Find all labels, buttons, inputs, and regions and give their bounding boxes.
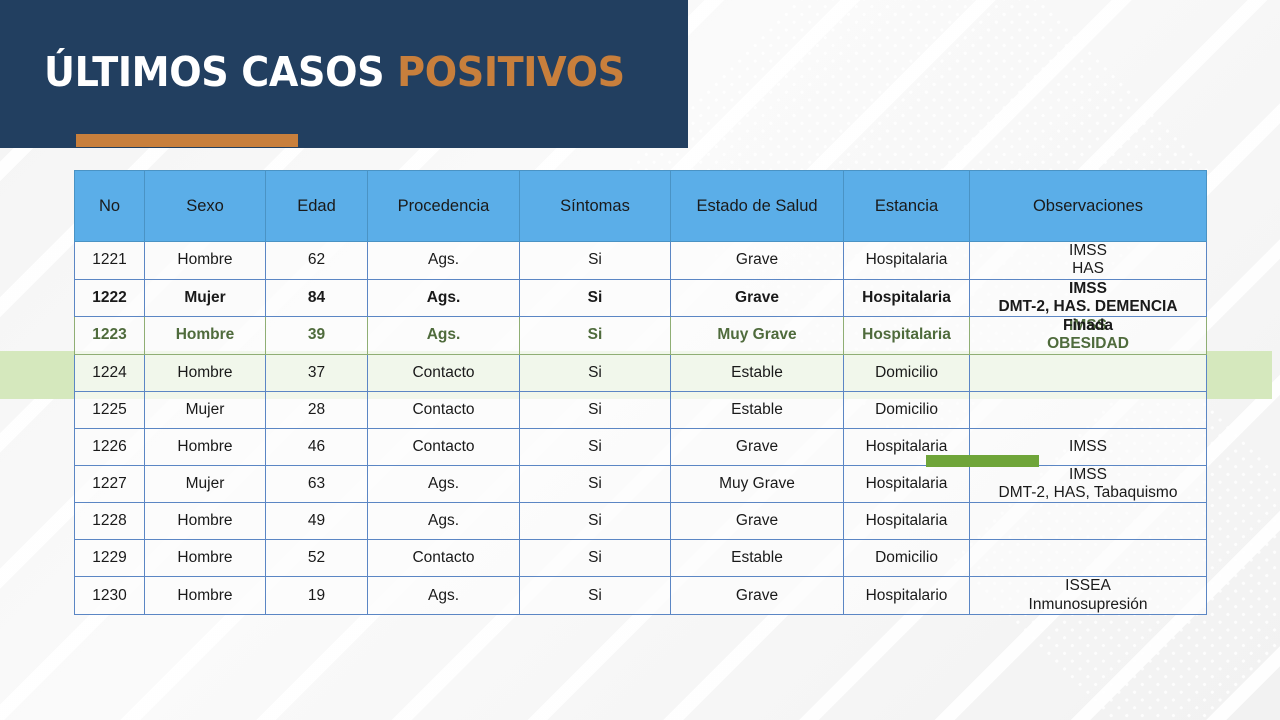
cell-procedencia: Ags. [368, 503, 520, 540]
column-header-sintomas: Síntomas [520, 171, 671, 242]
cell-sexo: Mujer [145, 391, 266, 428]
cell-no: 1229 [75, 540, 145, 577]
observacion-line: ISSEA [972, 577, 1204, 595]
cell-sintomas: Si [520, 391, 671, 428]
cell-edad: 19 [266, 577, 368, 615]
cell-sexo: Hombre [145, 428, 266, 465]
cell-no: 1224 [75, 354, 145, 391]
table-row: 1225 Mujer 28 Contacto Si Estable Domici… [75, 391, 1207, 428]
cell-sexo: Hombre [145, 503, 266, 540]
page-title-accent: POSITIVOS [397, 48, 625, 96]
cell-no: 1230 [75, 577, 145, 615]
cell-sintomas: Si [520, 279, 671, 317]
observacion-line: IMSS [972, 438, 1204, 456]
cell-estancia: Hospitalaria [844, 317, 970, 355]
cell-estado: Grave [671, 503, 844, 540]
cases-table: No Sexo Edad Procedencia Síntomas Estado… [74, 170, 1207, 615]
cell-estado: Grave [671, 577, 844, 615]
cell-observaciones [970, 503, 1207, 540]
page-title-main: ÚLTIMOS CASOS [44, 48, 384, 96]
cell-no: 1226 [75, 428, 145, 465]
cell-no: 1223 [75, 317, 145, 355]
observacion-line: DMT-2, HAS, Tabaquismo [972, 484, 1204, 502]
cell-procedencia: Ags. [368, 317, 520, 355]
table-row: 1228 Hombre 49 Ags. Si Grave Hospitalari… [75, 503, 1207, 540]
cell-sintomas: Si [520, 242, 671, 280]
cell-estado: Estable [671, 354, 844, 391]
cell-estado: Estable [671, 540, 844, 577]
cell-estado: Muy Grave [671, 465, 844, 503]
table-row: 1230 Hombre 19 Ags. Si Grave Hospitalari… [75, 577, 1207, 615]
cell-observaciones: IMSS DMT-2, HAS. DEMENCIA Finada [970, 279, 1207, 317]
column-header-estancia: Estancia [844, 171, 970, 242]
column-header-sexo: Sexo [145, 171, 266, 242]
cell-estancia: Hospitalaria [844, 242, 970, 280]
cell-no: 1228 [75, 503, 145, 540]
cell-edad: 84 [266, 279, 368, 317]
cell-edad: 52 [266, 540, 368, 577]
cell-edad: 46 [266, 428, 368, 465]
observacion-line: Finada [970, 317, 1206, 335]
cell-sintomas: Si [520, 428, 671, 465]
observacion-line: Inmunosupresión [972, 596, 1204, 614]
cell-estancia: Hospitalaria [844, 503, 970, 540]
table-row: 1224 Hombre 37 Contacto Si Estable Domic… [75, 354, 1207, 391]
column-header-no: No [75, 171, 145, 242]
title-underline-accent [76, 134, 298, 147]
cell-procedencia: Contacto [368, 391, 520, 428]
cell-procedencia: Contacto [368, 354, 520, 391]
page-title: ÚLTIMOS CASOS POSITIVOS [44, 52, 625, 93]
observacion-line: OBESIDAD [972, 335, 1204, 353]
cell-sexo: Mujer [145, 465, 266, 503]
cell-estancia: Hospitalaria [844, 465, 970, 503]
cell-observaciones: IMSS DMT-2, HAS, Tabaquismo [970, 465, 1207, 503]
column-header-estado-de-salud: Estado de Salud [671, 171, 844, 242]
observacion-line: IMSS [972, 466, 1204, 484]
cell-no: 1222 [75, 279, 145, 317]
table-body: 1221 Hombre 62 Ags. Si Grave Hospitalari… [75, 242, 1207, 615]
cell-sintomas: Si [520, 317, 671, 355]
cases-table-container: No Sexo Edad Procedencia Síntomas Estado… [74, 170, 1206, 615]
cell-procedencia: Ags. [368, 577, 520, 615]
cell-observaciones: ISSEA Inmunosupresión [970, 577, 1207, 615]
table-row: 1229 Hombre 52 Contacto Si Estable Domic… [75, 540, 1207, 577]
column-header-procedencia: Procedencia [368, 171, 520, 242]
column-header-observaciones: Observaciones [970, 171, 1207, 242]
cell-procedencia: Ags. [368, 465, 520, 503]
title-banner: ÚLTIMOS CASOS POSITIVOS [0, 0, 688, 148]
cell-observaciones [970, 540, 1207, 577]
cell-sexo: Hombre [145, 242, 266, 280]
cell-procedencia: Ags. [368, 279, 520, 317]
cell-estancia: Domicilio [844, 354, 970, 391]
slide: ÚLTIMOS CASOS POSITIVOS No Sexo Edad Pro… [0, 0, 1280, 720]
cell-estado: Grave [671, 279, 844, 317]
cell-sintomas: Si [520, 577, 671, 615]
cell-estancia: Domicilio [844, 540, 970, 577]
observacion-line: IMSS [972, 280, 1204, 298]
cell-sintomas: Si [520, 465, 671, 503]
table-row: 1227 Mujer 63 Ags. Si Muy Grave Hospital… [75, 465, 1207, 503]
cell-no: 1227 [75, 465, 145, 503]
cell-procedencia: Contacto [368, 428, 520, 465]
column-header-edad: Edad [266, 171, 368, 242]
table-header-row: No Sexo Edad Procedencia Síntomas Estado… [75, 171, 1207, 242]
cell-sexo: Mujer [145, 279, 266, 317]
table-row: 1221 Hombre 62 Ags. Si Grave Hospitalari… [75, 242, 1207, 280]
green-marker-bar [926, 455, 1039, 467]
cell-sexo: Hombre [145, 577, 266, 615]
cell-estancia: Hospitalario [844, 577, 970, 615]
table-row: 1222 Mujer 84 Ags. Si Grave Hospitalaria… [75, 279, 1207, 317]
cell-sexo: Hombre [145, 540, 266, 577]
cell-edad: 37 [266, 354, 368, 391]
cell-edad: 63 [266, 465, 368, 503]
cell-sintomas: Si [520, 503, 671, 540]
cell-estancia: Domicilio [844, 391, 970, 428]
cell-estado: Grave [671, 428, 844, 465]
cell-no: 1225 [75, 391, 145, 428]
cell-sintomas: Si [520, 354, 671, 391]
cell-procedencia: Ags. [368, 242, 520, 280]
cell-edad: 39 [266, 317, 368, 355]
cell-observaciones: IMSS HAS [970, 242, 1207, 280]
cell-estancia: Hospitalaria [844, 279, 970, 317]
cell-estado: Grave [671, 242, 844, 280]
cell-observaciones [970, 354, 1207, 391]
observacion-line: DMT-2, HAS. DEMENCIA [972, 298, 1204, 316]
table-header: No Sexo Edad Procedencia Síntomas Estado… [75, 171, 1207, 242]
cell-sintomas: Si [520, 540, 671, 577]
cell-estado: Muy Grave [671, 317, 844, 355]
cell-sexo: Hombre [145, 317, 266, 355]
cell-edad: 28 [266, 391, 368, 428]
cell-edad: 62 [266, 242, 368, 280]
cell-edad: 49 [266, 503, 368, 540]
cell-sexo: Hombre [145, 354, 266, 391]
cell-procedencia: Contacto [368, 540, 520, 577]
cell-observaciones [970, 391, 1207, 428]
observacion-line: HAS [972, 260, 1204, 278]
cell-no: 1221 [75, 242, 145, 280]
cell-estado: Estable [671, 391, 844, 428]
observacion-line: IMSS [972, 242, 1204, 260]
